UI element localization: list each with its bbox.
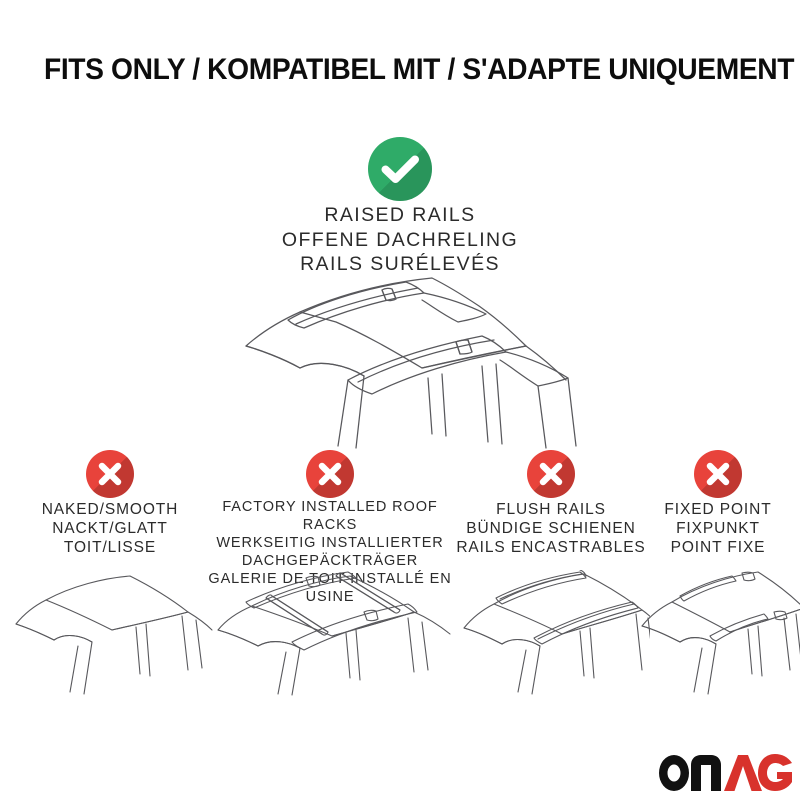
x-circle-icon xyxy=(86,450,134,498)
car-roof-with-raised-rails-illustration xyxy=(196,276,608,451)
naked-smooth-label-de: NACKT/GLATT xyxy=(6,519,214,538)
x-glyph xyxy=(306,450,354,498)
flush-rails-label-en: FLUSH RAILS xyxy=(452,500,650,519)
x-circle-icon xyxy=(306,450,354,498)
x-circle-icon xyxy=(694,450,742,498)
x-circle-icon xyxy=(527,450,575,498)
omac-letter-c xyxy=(758,754,792,791)
raised-rails-label-de: OFFENE DACHRELING xyxy=(200,228,600,253)
raised-rails-label-fr: RAILS SURÉLEVÉS xyxy=(200,252,600,277)
omac-logo xyxy=(658,752,792,792)
omac-letter-a xyxy=(724,755,762,791)
naked-smooth-label-fr: TOIT/LISSE xyxy=(6,538,214,557)
fixed-point-labels: FIXED POINT FIXPUNKT POINT FIXE xyxy=(636,500,800,557)
car-roof-with-factory-crossbars-illustration xyxy=(196,568,464,696)
flush-rails-label-fr: RAILS ENCASTRABLES xyxy=(452,538,650,557)
fixed-point-label-fr: POINT FIXE xyxy=(636,538,800,557)
omac-wordmark xyxy=(658,752,792,792)
raised-rails-labels: RAISED RAILS OFFENE DACHRELING RAILS SUR… xyxy=(200,203,600,277)
check-glyph xyxy=(368,137,432,201)
fixed-point-label-de: FIXPUNKT xyxy=(636,519,800,538)
fixed-point-label-en: FIXED POINT xyxy=(636,500,800,519)
car-roof-with-flush-rails-illustration xyxy=(452,570,650,695)
flush-rails-labels: FLUSH RAILS BÜNDIGE SCHIENEN RAILS ENCAS… xyxy=(452,500,650,557)
car-roof-with-fixed-points-illustration xyxy=(636,570,800,695)
factory-roof-racks-label-de1: WERKSEITIG INSTALLIERTER xyxy=(196,534,464,552)
x-glyph xyxy=(86,450,134,498)
naked-smooth-label-en: NAKED/SMOOTH xyxy=(6,500,214,519)
page-title: FITS ONLY / KOMPATIBEL MIT / S'ADAPTE UN… xyxy=(44,52,721,88)
x-glyph xyxy=(694,450,742,498)
raised-rails-label-en: RAISED RAILS xyxy=(200,203,600,228)
x-glyph xyxy=(527,450,575,498)
flush-rails-label-de: BÜNDIGE SCHIENEN xyxy=(452,519,650,538)
car-roof-bare-illustration xyxy=(6,570,214,695)
check-circle-icon xyxy=(368,137,432,201)
factory-roof-racks-label-en: FACTORY INSTALLED ROOF RACKS xyxy=(196,498,464,534)
naked-smooth-labels: NAKED/SMOOTH NACKT/GLATT TOIT/LISSE xyxy=(6,500,214,557)
